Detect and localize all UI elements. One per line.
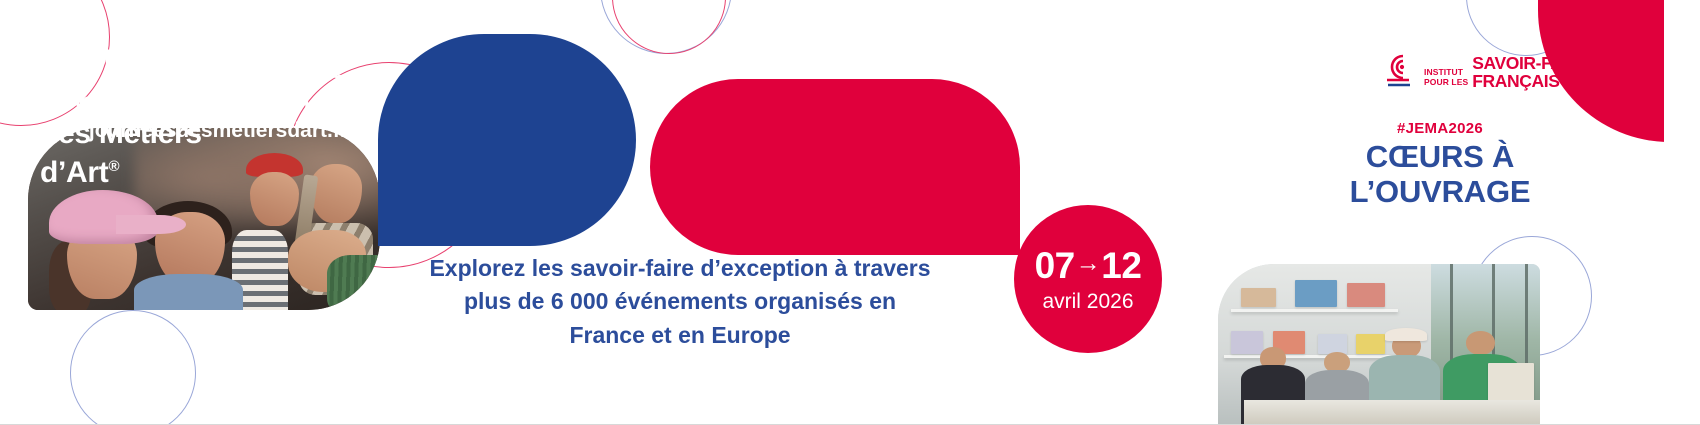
programme-text: Ateliers jeune public, sorties en famill… — [24, 27, 348, 146]
programme-line-2: sorties en famille, — [171, 60, 348, 83]
workshop-sample-card-3 — [1347, 283, 1386, 307]
intro-line-1: Explorez les savoir-faire d’exception à … — [429, 255, 930, 281]
photo-face-background-a — [250, 172, 299, 227]
logo-wordmark: INSTITUT POUR LES SAVOIR-FAIRE FRANÇAIS — [1424, 54, 1591, 90]
decorative-circle-blue-bottom-left — [70, 310, 196, 425]
programme-speech-bubble — [650, 79, 1020, 255]
logo-main-line-2: FRANÇAIS — [1472, 72, 1590, 90]
logo-institut-line-2: POUR LES — [1424, 77, 1468, 87]
workshop-sample-card-2 — [1295, 280, 1337, 307]
workshop-sample-card-1 — [1241, 288, 1276, 307]
workshop-table — [1244, 400, 1540, 424]
logo-institut-block: INSTITUT POUR LES — [1424, 54, 1468, 87]
title-speech-bubble — [378, 34, 636, 246]
campaign-hashtag: #JEMA2026 — [1280, 120, 1600, 137]
event-title-line-4: d’Art — [40, 156, 109, 189]
workshop-shelf-bottom — [1224, 355, 1401, 358]
workshop-sample-card-7 — [1356, 334, 1385, 353]
photo-workshop-visitors — [1218, 264, 1540, 424]
date-range: 07→12 — [1035, 247, 1142, 284]
corner-accent-notch — [1664, 0, 1700, 142]
logo-institut-line-1: INSTITUT — [1424, 67, 1468, 77]
arrow-right-icon: → — [1076, 251, 1101, 276]
programme-line-3: toute la programmation sur — [75, 90, 348, 113]
trademark-icon: ® — [109, 158, 120, 175]
date-day-end: 12 — [1101, 247, 1141, 284]
workshop-artisan-head — [1466, 331, 1495, 355]
slogan-line-1: CŒURS À — [1366, 139, 1514, 174]
jema-2026-banner: Journées Européennes des Métiers d’Art® … — [0, 0, 1700, 425]
spiral-logo-icon — [1383, 52, 1417, 92]
intro-line-2: plus de 6 000 événements organisés en — [464, 288, 896, 314]
programme-line-1: Ateliers jeune public, — [137, 30, 348, 53]
logo-main-block: SAVOIR-FAIRE FRANÇAIS — [1472, 54, 1590, 90]
campaign-slogan: CŒURS À L’OUVRAGE — [1280, 140, 1600, 209]
workshop-shelf-top — [1231, 309, 1398, 312]
decorative-circle-blue-top — [600, 0, 732, 54]
workshop-sample-card-4 — [1231, 331, 1263, 353]
programme-website-link[interactable]: journeesdesmetiersdart.fr — [89, 119, 348, 142]
photo-green-sleeve — [327, 255, 380, 310]
photo-face-background-b — [310, 164, 363, 222]
workshop-visitor-3-cap — [1385, 328, 1427, 341]
intro-line-3: France et en Europe — [569, 322, 790, 348]
photo-child-shirt — [134, 274, 243, 310]
workshop-sample-card-6 — [1318, 334, 1347, 353]
intro-paragraph: Explorez les savoir-faire d’exception à … — [400, 252, 960, 352]
date-day-start: 07 — [1035, 247, 1075, 284]
date-month-year: avril 2026 — [1042, 291, 1133, 312]
logo-main-line-1: SAVOIR-FAIRE — [1472, 54, 1590, 72]
decorative-circle-blue-top-right — [1466, 0, 1586, 56]
slogan-line-2: L’OUVRAGE — [1350, 174, 1531, 209]
savoir-faire-francais-logo[interactable]: INSTITUT POUR LES SAVOIR-FAIRE FRANÇAIS — [1383, 52, 1591, 92]
event-date-badge: 07→12 avril 2026 — [1014, 205, 1162, 353]
decorative-circle-pink-top — [612, 0, 726, 54]
photo-pink-cap-brim — [116, 215, 186, 233]
